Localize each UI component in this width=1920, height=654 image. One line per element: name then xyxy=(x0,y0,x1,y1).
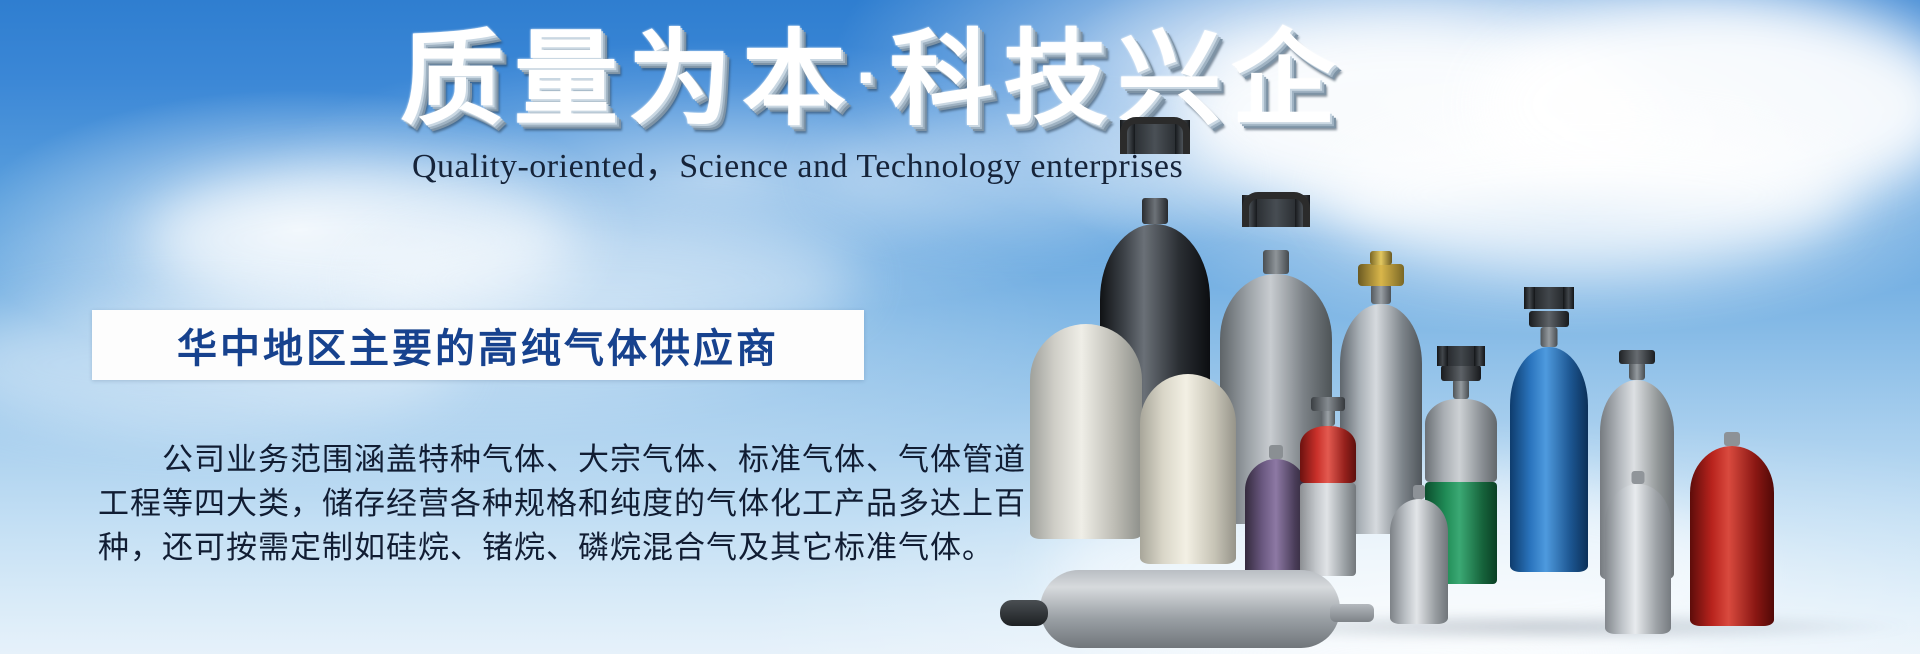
headline-right-text: 科技兴企 xyxy=(889,22,1345,138)
cloud-shape xyxy=(150,170,570,310)
horizontal-cylinder-neck xyxy=(1330,604,1374,622)
purple-small-cylinder xyxy=(1245,459,1307,579)
description-line-3: 种，还可按需定制如硅烷、锗烷、磷烷混合气及其它标准气体。 xyxy=(98,526,868,570)
slogan-box: 华中地区主要的高纯气体供应商 xyxy=(92,310,864,380)
dark-red-cylinder xyxy=(1690,446,1774,626)
gas-cylinders-photo xyxy=(1150,140,1920,654)
ivory-cylinder xyxy=(1140,374,1236,564)
front-silver-cylinder xyxy=(1605,484,1671,634)
banner-subtitle: Quality-oriented，Science and Technology … xyxy=(412,138,1183,187)
promo-banner: 质量为本·科技兴企 Quality-oriented，Science and T… xyxy=(0,0,1920,654)
white-cylinder xyxy=(1030,324,1142,539)
headline-separator-dot: · xyxy=(856,38,889,116)
red-cap-cylinder xyxy=(1300,426,1356,576)
horizontal-grey-cylinder xyxy=(1040,570,1340,648)
headline-left-text: 质量为本 xyxy=(400,22,856,138)
description-line-1: 公司业务范围涵盖特种气体、大宗气体、标准气体、气体管道 xyxy=(98,438,868,482)
horizontal-cylinder-valve xyxy=(1000,600,1048,626)
slogan-text: 华中地区主要的高纯气体供应商 xyxy=(177,316,779,374)
banner-headline: 质量为本·科技兴企 xyxy=(400,26,1345,135)
silver-small-cylinder xyxy=(1390,499,1448,624)
blue-cylinder xyxy=(1510,347,1588,572)
banner-description: 公司业务范围涵盖特种气体、大宗气体、标准气体、气体管道 工程等四大类，储存经营各… xyxy=(98,438,868,570)
description-line-2: 工程等四大类，储存经营各种规格和纯度的气体化工产品多达上百 xyxy=(98,482,868,526)
